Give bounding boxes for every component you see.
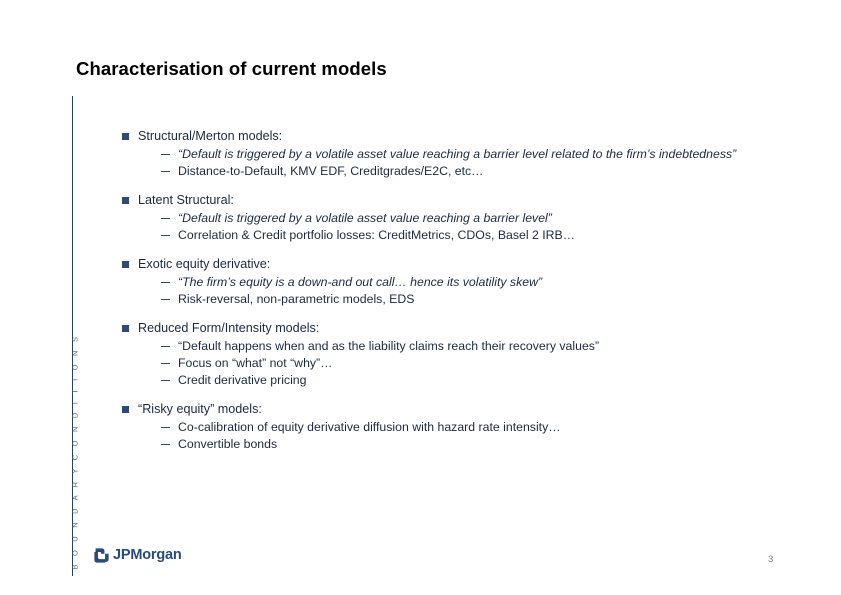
sub-bullet-item: Convertible bonds [122,436,762,453]
dash-bullet-icon [161,427,170,428]
bullet-group: Latent Structural:“Default is triggered … [122,192,762,244]
sub-bullet-list: “The firm’s equity is a down-and out cal… [122,274,762,308]
square-bullet-icon [122,261,129,268]
sub-bullet-item: Risk-reversal, non-parametric models, ED… [122,291,762,308]
sub-bullet-list: “Default is triggered by a volatile asse… [122,146,762,180]
bullet-heading: “Risky equity” models: [122,401,762,418]
jpmorgan-wordmark: JPMorgan [113,548,182,563]
sub-bullet-label: Credit derivative pricing [178,372,750,389]
jpmorgan-logo: JPMorgan [92,546,182,565]
page-number: 3 [768,554,773,565]
sub-bullet-label: “Default is triggered by a volatile asse… [178,146,750,163]
dash-bullet-icon [161,363,170,364]
bullet-content-area: Structural/Merton models:“Default is tri… [122,128,762,453]
sidebar-section-caption: B O U N D A R Y C O N D I T I O N S [0,398,18,568]
sub-bullet-label: “Default is triggered by a volatile asse… [178,210,750,227]
sub-bullet-label: “The firm’s equity is a down-and out cal… [178,274,750,291]
sub-bullet-label: Distance-to-Default, KMV EDF, Creditgrad… [178,163,750,180]
dash-bullet-icon [161,299,170,300]
bullet-group: Structural/Merton models:“Default is tri… [122,128,762,180]
sub-bullet-label: Correlation & Credit portfolio losses: C… [178,227,750,244]
dash-bullet-icon [161,444,170,445]
bullet-group: Reduced Form/Intensity models:“Default h… [122,320,762,389]
sub-bullet-list: “Default happens when and as the liabili… [122,338,762,389]
sub-bullet-label: Focus on “what” not “why”… [178,355,750,372]
bullet-heading: Structural/Merton models: [122,128,762,145]
sub-bullet-item: “The firm’s equity is a down-and out cal… [122,274,762,291]
sub-bullet-item: Focus on “what” not “why”… [122,355,762,372]
bullet-heading: Reduced Form/Intensity models: [122,320,762,337]
sub-bullet-label: “Default happens when and as the liabili… [178,338,750,355]
sub-bullet-item: “Default happens when and as the liabili… [122,338,762,355]
sub-bullet-label: Convertible bonds [178,436,750,453]
sidebar-caption-label: B O U N D A R Y C O N D I T I O N S [71,392,80,570]
sub-bullet-label: Co-calibration of equity derivative diff… [178,419,750,436]
dash-bullet-icon [161,346,170,347]
dash-bullet-icon [161,235,170,236]
sub-bullet-list: “Default is triggered by a volatile asse… [122,210,762,244]
sub-bullet-item: “Default is triggered by a volatile asse… [122,146,762,163]
dash-bullet-icon [161,154,170,155]
dash-bullet-icon [161,218,170,219]
bullet-group: Exotic equity derivative:“The firm’s equ… [122,256,762,308]
dash-bullet-icon [161,282,170,283]
page-title: Characterisation of current models [76,58,387,80]
bullet-heading: Exotic equity derivative: [122,256,762,273]
square-bullet-icon [122,406,129,413]
bullet-heading-label: Exotic equity derivative: [138,256,762,273]
bullet-heading-label: Latent Structural: [138,192,762,209]
sub-bullet-item: “Default is triggered by a volatile asse… [122,210,762,227]
bullet-heading: Latent Structural: [122,192,762,209]
sub-bullet-item: Credit derivative pricing [122,372,762,389]
sub-bullet-list: Co-calibration of equity derivative diff… [122,419,762,453]
sub-bullet-item: Correlation & Credit portfolio losses: C… [122,227,762,244]
bullet-group: “Risky equity” models:Co-calibration of … [122,401,762,453]
square-bullet-icon [122,133,129,140]
sub-bullet-label: Risk-reversal, non-parametric models, ED… [178,291,750,308]
bullet-heading-label: Reduced Form/Intensity models: [138,320,762,337]
square-bullet-icon [122,325,129,332]
dash-bullet-icon [161,380,170,381]
bullet-heading-label: Structural/Merton models: [138,128,762,145]
dash-bullet-icon [161,171,170,172]
square-bullet-icon [122,197,129,204]
bullet-heading-label: “Risky equity” models: [138,401,762,418]
sub-bullet-item: Distance-to-Default, KMV EDF, Creditgrad… [122,163,762,180]
sub-bullet-item: Co-calibration of equity derivative diff… [122,419,762,436]
presentation-slide: Characterisation of current models B O U… [0,0,841,595]
jpmorgan-octagon-icon [92,546,111,565]
